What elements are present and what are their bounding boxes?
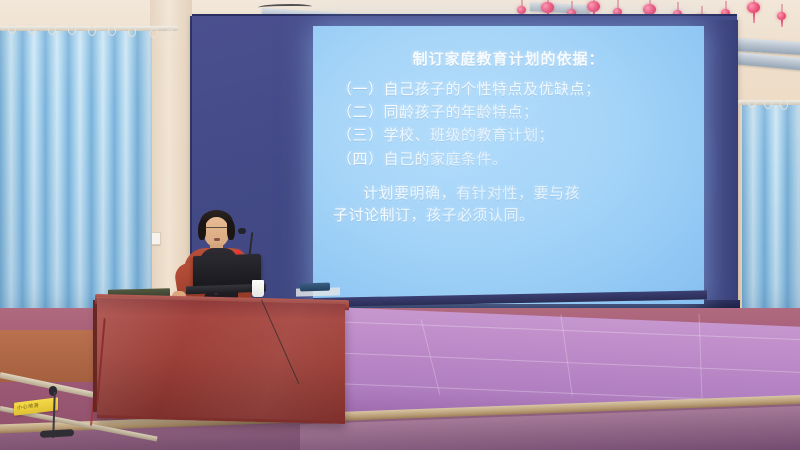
paper-cup	[252, 280, 264, 297]
slide-bullet-1: （一）自己孩子的个性特点及优缺点；	[337, 78, 690, 100]
slide-content: 制订家庭教育计划的依据： （一）自己孩子的个性特点及优缺点； （二）同龄孩子的年…	[313, 26, 704, 304]
curtain-right-shading	[742, 104, 800, 330]
slide-title: 制订家庭教育计划的依据：	[327, 48, 690, 69]
curtain-left-shading	[0, 30, 152, 330]
glasses-icon	[205, 227, 228, 233]
lecture-hall-photo: 安全通道 安全出口 制订家庭教育计划的依据： （一）自己孩子的个性特点及优缺点；…	[0, 0, 800, 450]
curtain-ring	[28, 24, 36, 34]
curtain-ring	[48, 25, 56, 35]
projection-screen: 制订家庭教育计划的依据： （一）自己孩子的个性特点及优缺点； （二）同龄孩子的年…	[313, 26, 704, 304]
curtain-ring	[68, 25, 76, 35]
slide-paragraph: 计划要明确，有针对性，要与孩 子讨论制订，孩子必须认同。	[333, 182, 690, 227]
slide-bullet-4: （四）自己的家庭条件。	[337, 148, 690, 170]
presenter-mouth	[214, 238, 220, 241]
board-edge-right	[700, 20, 738, 305]
microphone-head-icon	[238, 228, 246, 234]
curtain-ring	[150, 28, 158, 38]
slide-paragraph-line-1: 计划要明确，有针对性，要与孩	[333, 182, 690, 205]
curtain-ring	[764, 99, 772, 109]
lantern-icon	[517, 6, 526, 14]
slide-bullet-2: （二）同龄孩子的年龄特点；	[337, 101, 690, 123]
curtain-ring	[8, 24, 16, 34]
curtain-ring	[166, 29, 174, 39]
lantern-icon	[747, 2, 760, 13]
slide-bullet-3: （三）学校、班级的教育计划；	[337, 124, 690, 146]
curtain-ring	[128, 27, 136, 37]
lantern-icon	[541, 2, 554, 13]
presenter-hair-side-right	[227, 220, 235, 240]
curtain-ring	[88, 26, 96, 36]
slide-paragraph-line-2: 子讨论制订，孩子必须认同。	[333, 204, 690, 227]
overhead-cable	[258, 4, 312, 10]
curtain-ring	[748, 98, 756, 108]
lantern-icon	[777, 12, 786, 20]
lantern-icon	[587, 1, 600, 12]
curtain-ring	[780, 100, 788, 110]
microphone-led-indicator	[236, 250, 240, 254]
curtain-ring	[108, 26, 116, 36]
